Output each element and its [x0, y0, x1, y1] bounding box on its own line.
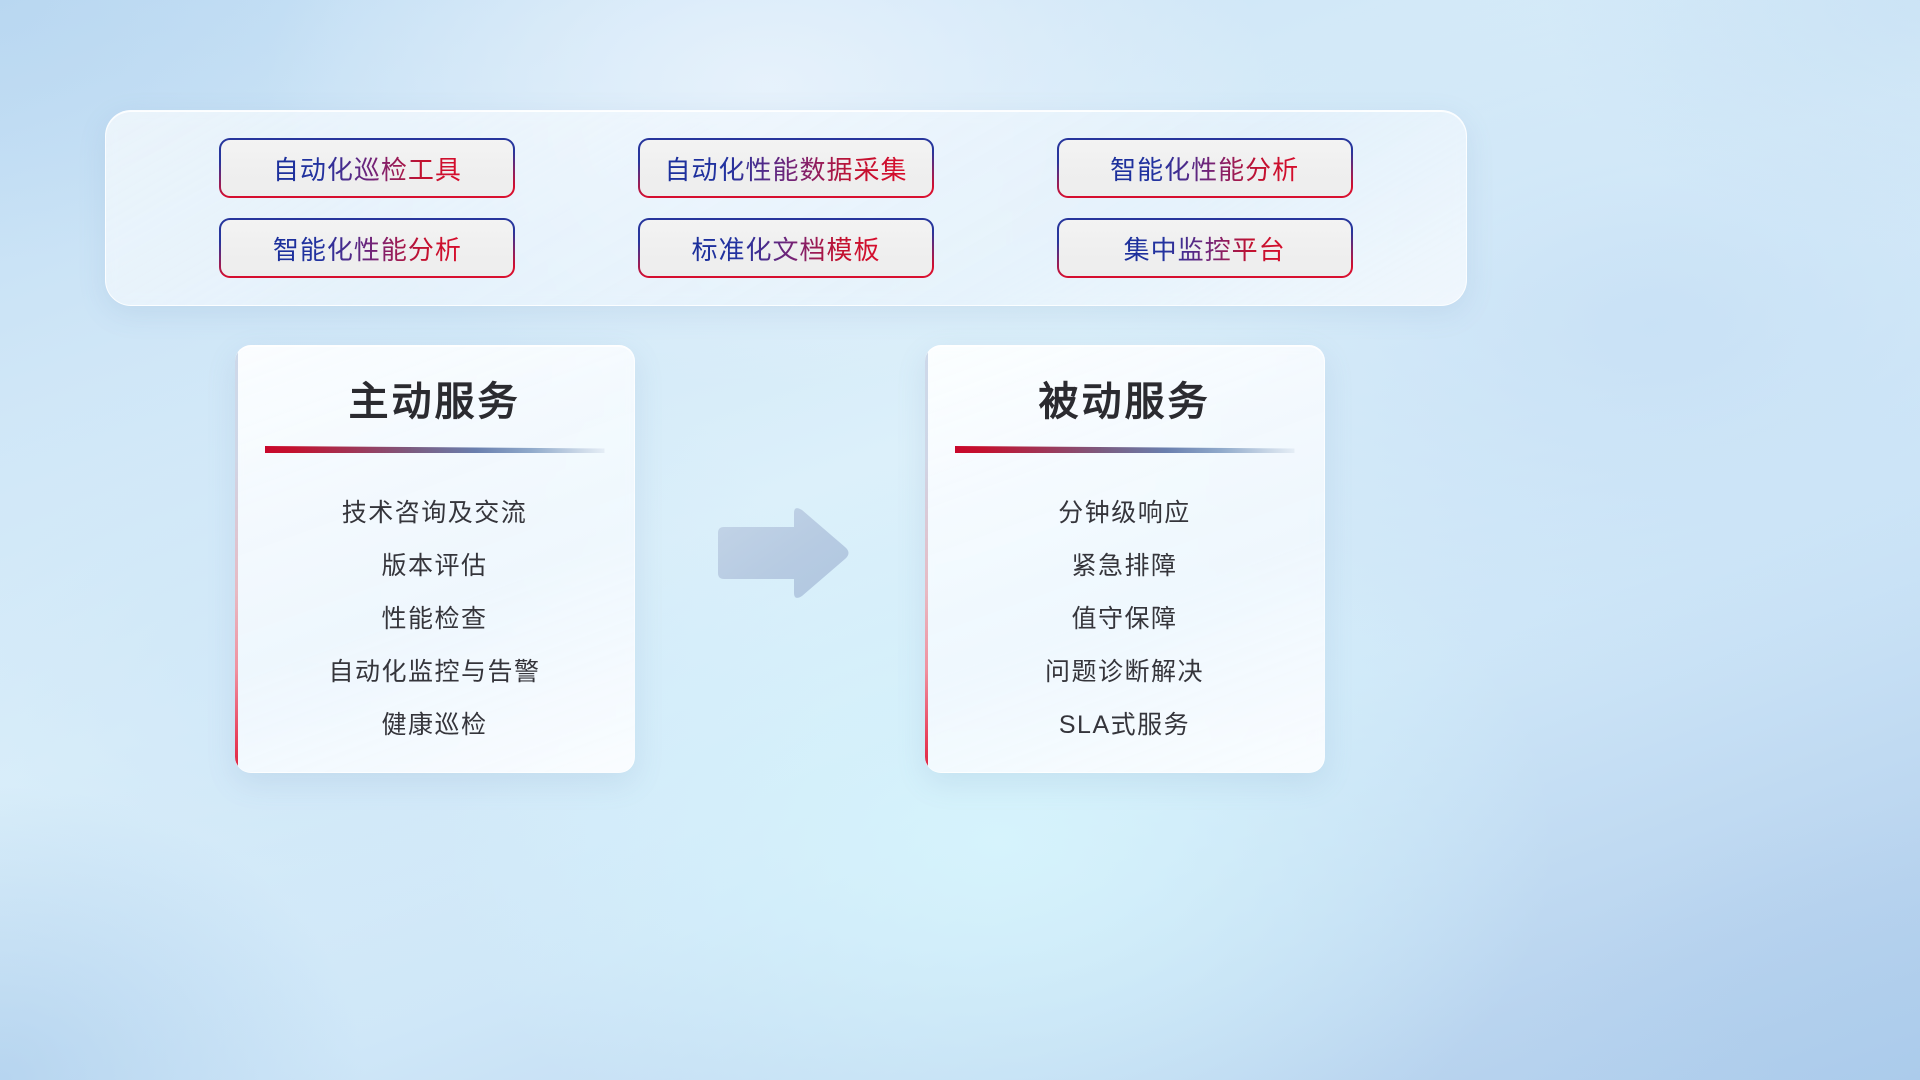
- capability-pill-label: 智能化性能分析: [273, 230, 462, 267]
- slide-canvas: 自动化巡检工具 自动化性能数据采集 智能化性能分析 智能化性能分析 标准化文档模…: [0, 0, 1920, 1080]
- capability-pill-label: 集中监控平台: [1124, 230, 1286, 267]
- capability-pill-label: 自动化性能数据采集: [664, 150, 907, 187]
- list-item: 技术咨询及交流: [235, 487, 634, 540]
- card-title: 被动服务: [925, 380, 1324, 424]
- capability-pill-2[interactable]: 自动化性能数据采集: [640, 140, 932, 196]
- title-divider: [955, 446, 1295, 453]
- capability-pill-label: 自动化巡检工具: [273, 150, 462, 187]
- service-card-reactive[interactable]: 被动服务 分钟级响应 紧急排障 值守保障 问题诊断解决 SLA式服务: [925, 345, 1325, 773]
- flow-arrow-right-icon: [712, 505, 852, 601]
- capability-pill-1[interactable]: 自动化巡检工具: [221, 140, 513, 196]
- service-item-list: 分钟级响应 紧急排障 值守保障 问题诊断解决 SLA式服务: [925, 487, 1324, 752]
- capability-pill-3[interactable]: 智能化性能分析: [1059, 140, 1351, 196]
- list-item: 自动化监控与告警: [235, 646, 634, 699]
- list-item: 分钟级响应: [925, 487, 1324, 540]
- capability-pill-6[interactable]: 集中监控平台: [1059, 220, 1351, 276]
- list-item: 健康巡检: [235, 699, 634, 752]
- list-item: 值守保障: [925, 593, 1324, 646]
- list-item: 版本评估: [235, 540, 634, 593]
- capability-pill-4[interactable]: 智能化性能分析: [221, 220, 513, 276]
- service-item-list: 技术咨询及交流 版本评估 性能检查 自动化监控与告警 健康巡检: [235, 487, 634, 752]
- list-item: 问题诊断解决: [925, 646, 1324, 699]
- list-item: 紧急排障: [925, 540, 1324, 593]
- capability-panel: 自动化巡检工具 自动化性能数据采集 智能化性能分析 智能化性能分析 标准化文档模…: [105, 110, 1467, 306]
- list-item: 性能检查: [235, 593, 634, 646]
- capability-pill-label: 标准化文档模板: [691, 230, 880, 267]
- capability-pill-5[interactable]: 标准化文档模板: [640, 220, 932, 276]
- capability-pill-label: 智能化性能分析: [1110, 150, 1299, 187]
- title-divider: [265, 446, 605, 453]
- service-card-proactive[interactable]: 主动服务 技术咨询及交流 版本评估 性能检查 自动化监控与告警 健康巡检: [235, 345, 635, 773]
- card-title: 主动服务: [235, 380, 634, 424]
- list-item: SLA式服务: [925, 699, 1324, 752]
